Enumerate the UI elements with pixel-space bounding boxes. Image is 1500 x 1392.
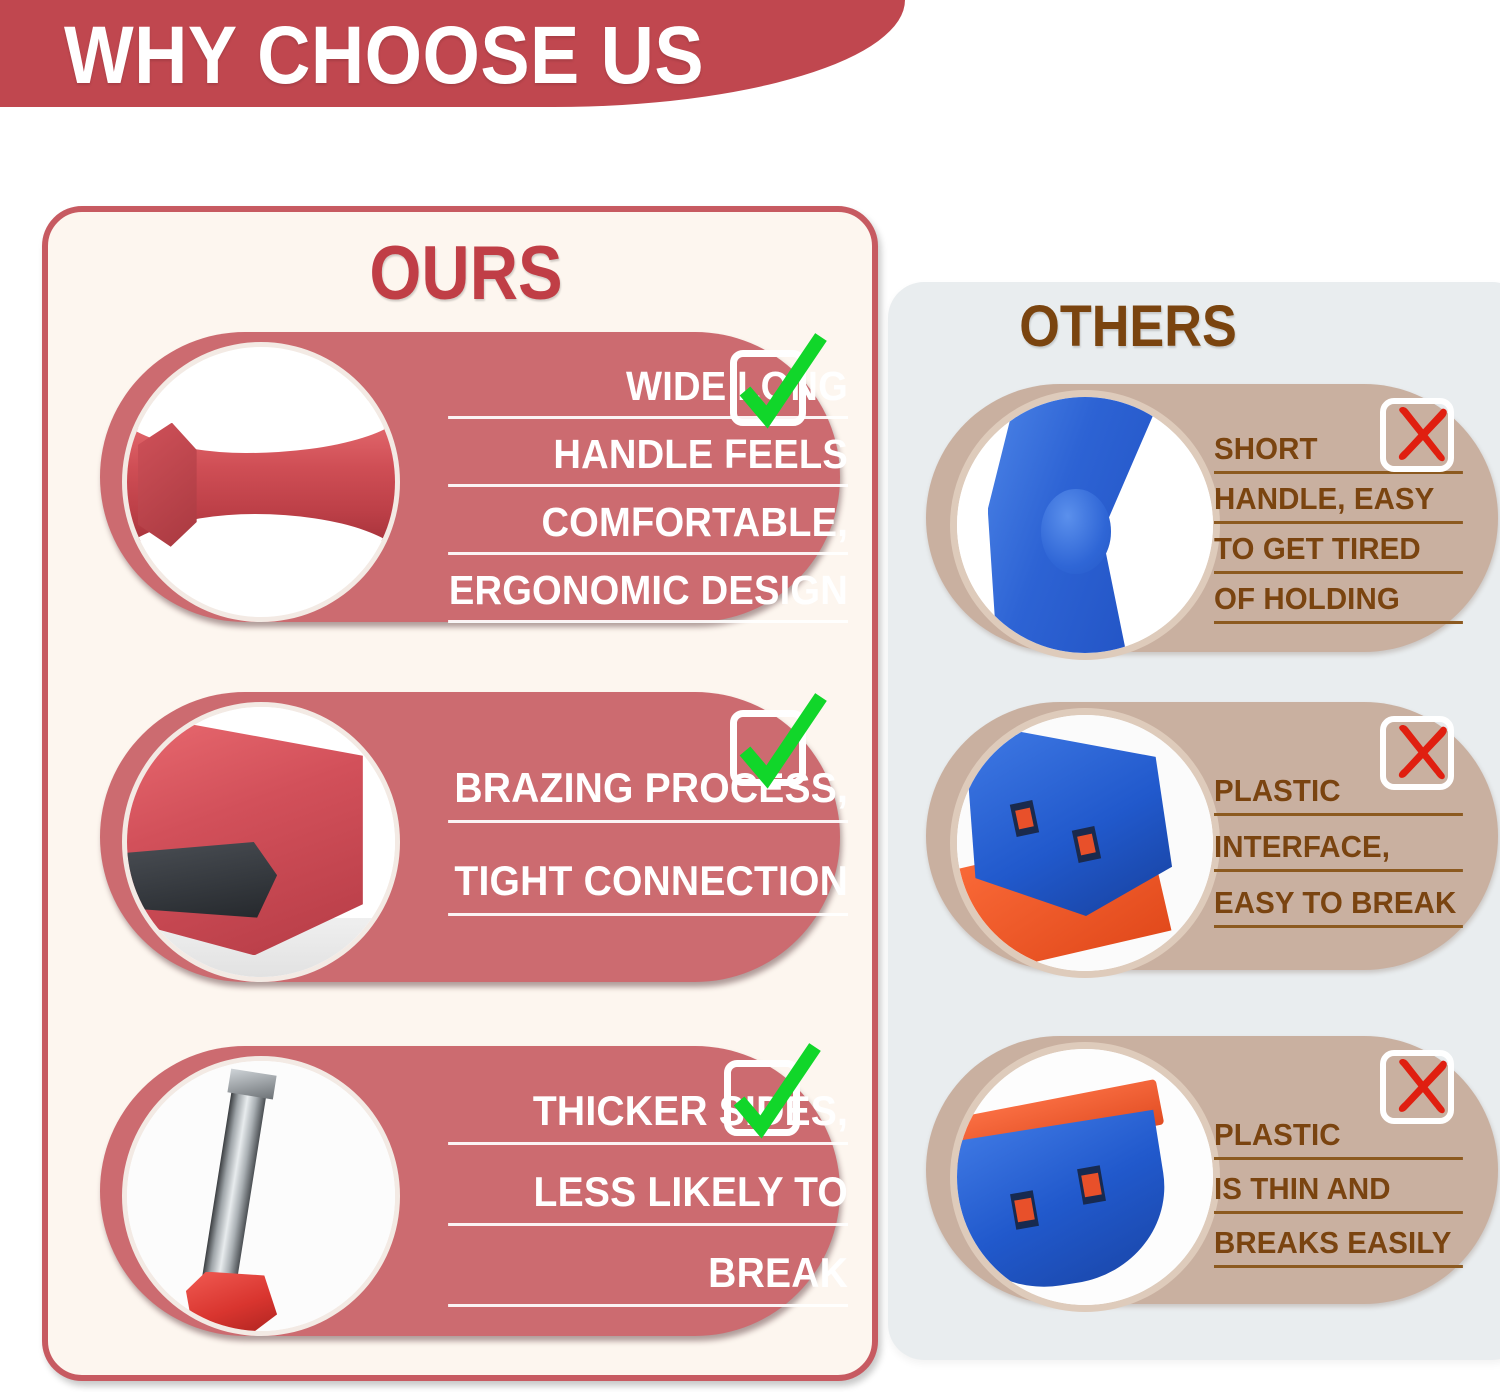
feature-line: BREAK [448,1244,848,1307]
others-feature-row[interactable]: PLASTIC INTERFACE, EASY TO BREAK [926,702,1498,970]
orange-blade-thin-blue-plate-photo [950,1042,1220,1312]
scraper-head-shape [122,723,363,955]
others-panel: OTHERS SHORT HANDLE, EASY TO GET TIRED O… [888,282,1500,1360]
red-x-icon [1388,1050,1460,1122]
feature-line: TO GET TIRED [1214,528,1463,574]
cross-box-frame [1380,1050,1454,1124]
thumb-dimple-shape [1041,489,1110,573]
checkbox-frame [730,350,806,426]
feature-line: COMFORTABLE, [448,494,848,555]
feature-line: ERGONOMIC DESIGN [448,562,848,623]
ours-feature-row[interactable]: BRAZING PROCESS, TIGHT CONNECTION [100,692,840,982]
ours-title: OURS [98,234,834,314]
green-check-icon [729,335,825,435]
blue-short-handle-photo [950,390,1220,660]
cross-box-frame [1380,716,1454,790]
feature-line: HANDLE FEELS [448,426,848,487]
red-x-icon [1388,398,1460,470]
checkbox-frame [730,710,806,786]
green-check-icon [729,695,825,795]
ours-panel: OURS WIDE LONG HANDLE FEELS COMFORTABLE,… [42,206,878,1381]
ours-feature-row[interactable]: THICKER SIDES, LESS LIKELY TO BREAK [100,1046,840,1336]
feature-line: TIGHT CONNECTION [448,851,848,916]
others-title: OTHERS [912,296,1344,358]
handle-notch-shape [138,423,197,547]
feature-line: EASY TO BREAK [1214,882,1463,928]
feature-line: BREAKS EASILY [1214,1222,1463,1268]
others-feature-text: PLASTIC IS THIN AND BREAKS EASILY [1214,1114,1476,1276]
blue-plastic-head-orange-blade-photo [950,708,1220,978]
feature-line: LESS LIKELY TO [448,1163,848,1226]
feature-line: HANDLE, EASY [1214,478,1463,524]
feature-line: INTERFACE, [1214,826,1463,872]
checkbox-frame [724,1060,800,1136]
others-feature-row[interactable]: PLASTIC IS THIN AND BREAKS EASILY [926,1036,1498,1304]
red-wide-handle-photo [122,342,400,622]
ours-feature-row[interactable]: WIDE LONG HANDLE FEELS COMFORTABLE, ERGO… [100,332,840,622]
metal-shaft-red-handle-photo [122,1056,400,1336]
green-check-icon [723,1045,819,1145]
header-banner: WHY CHOOSE US [0,0,905,107]
others-feature-text: PLASTIC INTERFACE, EASY TO BREAK [1214,770,1476,938]
cross-box-frame [1380,398,1454,472]
others-feature-row[interactable]: SHORT HANDLE, EASY TO GET TIRED OF HOLDI… [926,384,1498,652]
red-head-black-blade-photo [122,702,400,982]
red-x-icon [1388,716,1460,788]
feature-line: IS THIN AND [1214,1168,1463,1214]
page-title: WHY CHOOSE US [64,8,704,104]
feature-line: OF HOLDING [1214,578,1463,624]
metal-blade-shape [122,842,277,918]
